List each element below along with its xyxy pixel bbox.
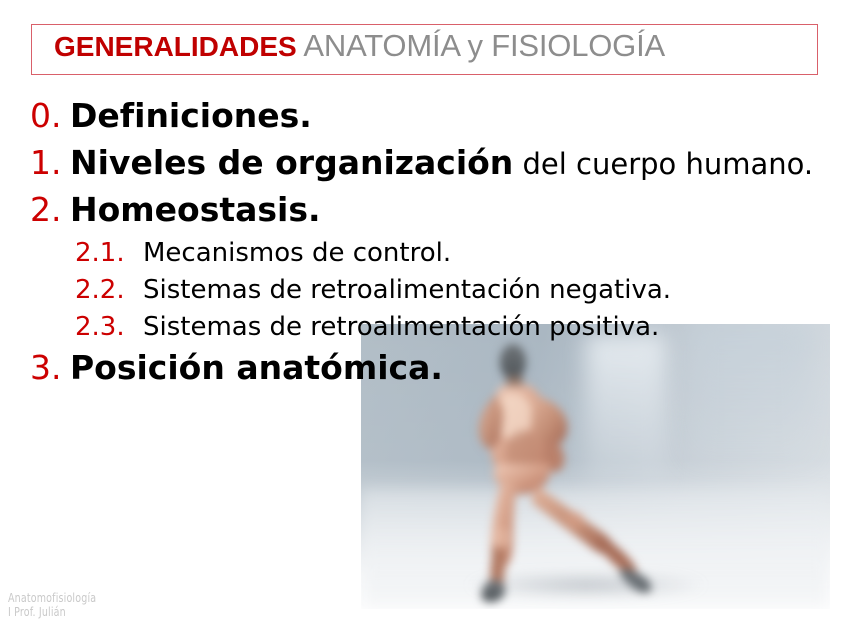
list-item: 2. Homeostasis.	[30, 188, 830, 233]
list-item: 1. Niveles de organización del cuerpo hu…	[30, 141, 830, 186]
title-box: GENERALIDADES ANATOMÍA y FISIOLOGÍA	[31, 24, 818, 75]
list-item: 2.3. Sistemas de retroalimentación posit…	[75, 309, 830, 346]
list-item-number: 2.1.	[75, 235, 143, 272]
title-clip-mask	[0, 76, 848, 102]
list-item-text: Posición anatómica.	[70, 346, 443, 391]
title-rest: ANATOMÍA y FISIOLOGÍA	[297, 28, 665, 63]
list-item: 3. Posición anatómica.	[30, 346, 830, 391]
list-item-number: 2.2.	[75, 272, 143, 309]
list-item-number: 3.	[30, 346, 70, 390]
footer-line-2: I Prof. Julián	[8, 605, 96, 619]
list-item-number: 1.	[30, 141, 70, 185]
list-item: 2.1. Mecanismos de control.	[75, 235, 830, 272]
title-emphasis: GENERALIDADES	[54, 31, 297, 62]
list-item-text: Homeostasis.	[70, 188, 321, 233]
outline-list: 0. Definiciones. 1. Niveles de organizac…	[30, 94, 830, 393]
slide: 2 GENERALIDADES ANATOMÍA y FISIOLOGÍA 0.…	[0, 0, 848, 636]
list-item-text: Sistemas de retroalimentación negativa.	[143, 272, 671, 309]
list-item-text: Sistemas de retroalimentación positiva.	[143, 309, 659, 346]
footer-line-1: Anatomofisiología	[8, 591, 96, 605]
list-item-bold: Niveles de organización	[70, 143, 513, 182]
list-item-normal: del cuerpo humano.	[513, 147, 813, 181]
figure-shadow	[464, 572, 708, 598]
list-item-number: 2.3.	[75, 309, 143, 346]
list-item-text: Niveles de organización del cuerpo human…	[70, 141, 813, 186]
footer: Anatomofisiología I Prof. Julián	[8, 591, 96, 619]
list-item-text: Mecanismos de control.	[143, 235, 451, 272]
list-item-bold: Posición anatómica.	[70, 348, 443, 387]
list-item-number: 2.	[30, 188, 70, 232]
list-item-bold: Homeostasis.	[70, 190, 321, 229]
list-item: 2.2. Sistemas de retroalimentación negat…	[75, 272, 830, 309]
page-title: GENERALIDADES ANATOMÍA y FISIOLOGÍA	[54, 26, 794, 66]
